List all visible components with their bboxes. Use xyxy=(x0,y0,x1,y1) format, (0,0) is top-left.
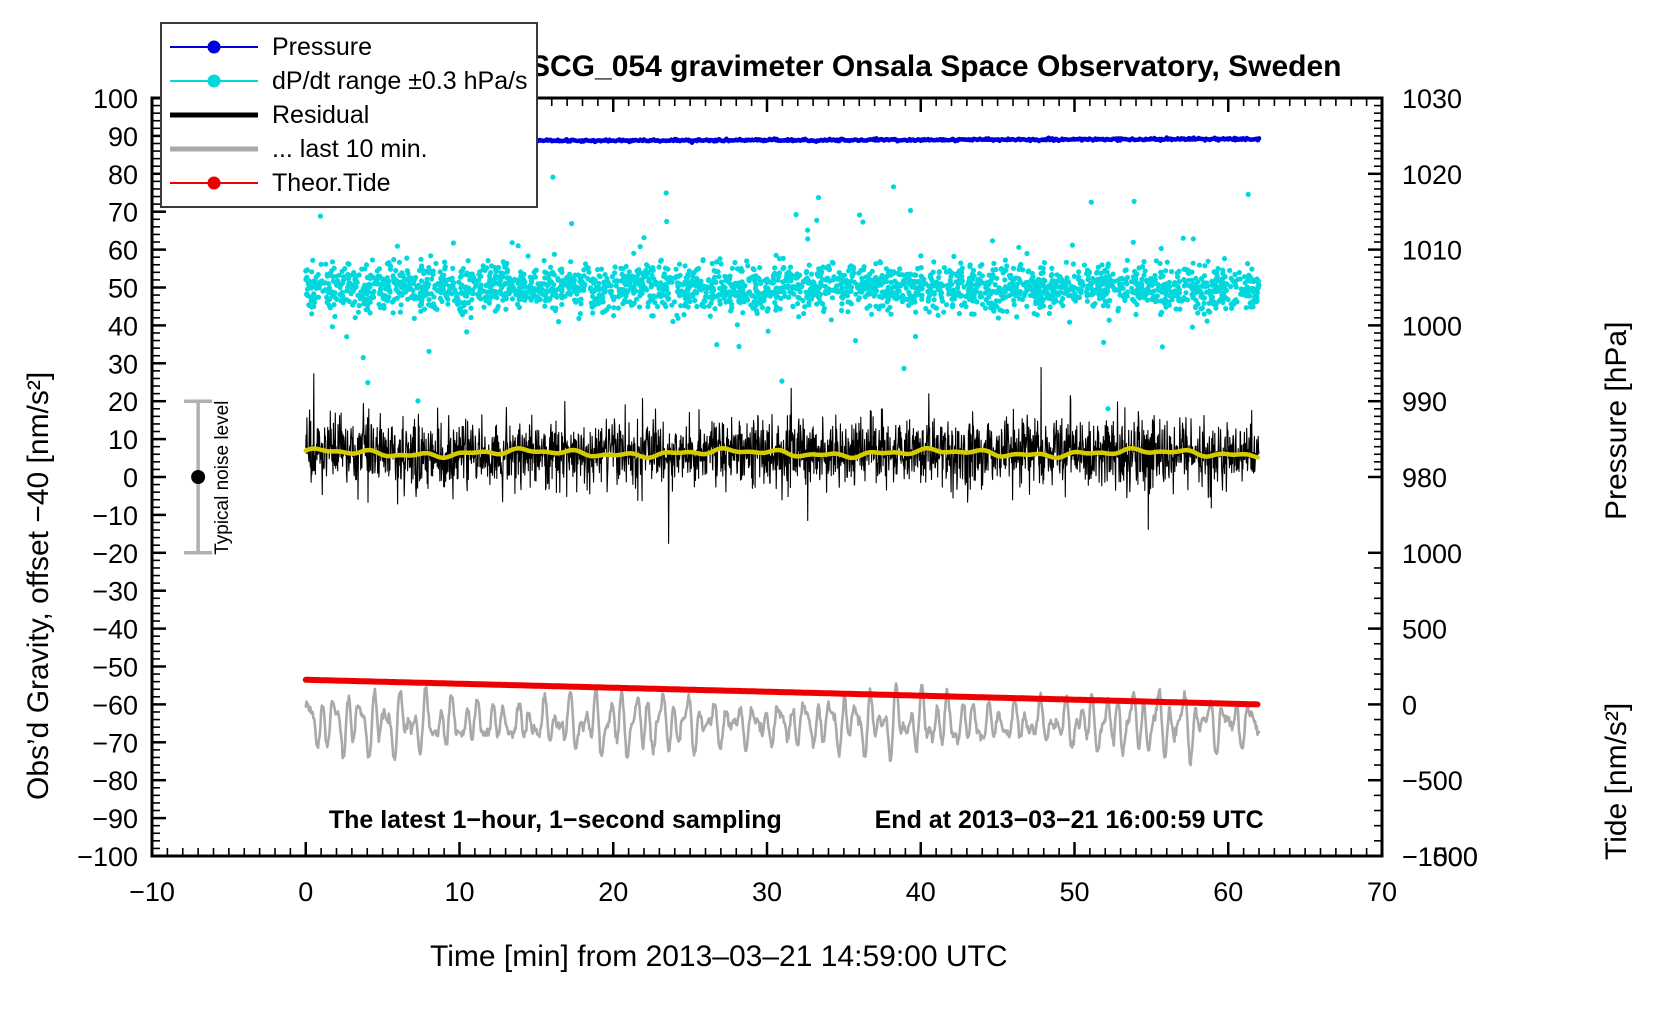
scatter-point xyxy=(577,279,582,284)
scatter-point xyxy=(318,214,323,219)
scatter-point xyxy=(779,379,784,384)
scatter-point xyxy=(788,265,793,270)
scatter-point xyxy=(595,267,600,272)
scatter-point xyxy=(325,274,330,279)
legend-item-label: Theor.Tide xyxy=(262,169,391,198)
scatter-point xyxy=(377,266,382,271)
scatter-point xyxy=(850,274,855,279)
scatter-point xyxy=(452,298,457,303)
scatter-point xyxy=(633,288,638,293)
scatter-point xyxy=(462,300,467,305)
scatter-point xyxy=(476,277,481,282)
scatter-point xyxy=(801,279,806,284)
scatter-point xyxy=(696,284,701,289)
legend-item-label: Residual xyxy=(262,101,369,130)
scatter-point xyxy=(1099,279,1104,284)
scatter-point xyxy=(316,272,321,277)
y-tick-label: −40 xyxy=(92,615,138,645)
scatter-point xyxy=(862,282,867,287)
scatter-point xyxy=(1020,267,1025,272)
scatter-point xyxy=(1195,310,1200,315)
scatter-point xyxy=(1227,268,1232,273)
scatter-point xyxy=(1099,271,1104,276)
scatter-point xyxy=(529,296,534,301)
y-right-tide-label: −1500 xyxy=(1402,842,1478,872)
scatter-point xyxy=(887,291,892,296)
scatter-point xyxy=(491,278,496,283)
scatter-point xyxy=(846,268,851,273)
scatter-point xyxy=(1098,293,1103,298)
scatter-point xyxy=(385,298,390,303)
scatter-point xyxy=(806,292,811,297)
legend-item-2[interactable]: Residual xyxy=(166,98,528,132)
scatter-point xyxy=(481,263,486,268)
scatter-point xyxy=(1142,295,1147,300)
scatter-point xyxy=(745,263,750,268)
scatter-point xyxy=(1042,260,1047,265)
scatter-point xyxy=(842,280,847,285)
scatter-point xyxy=(763,285,768,290)
scatter-point xyxy=(518,281,523,286)
x-tick-label: 0 xyxy=(298,877,313,907)
scatter-point xyxy=(578,311,583,316)
scatter-point xyxy=(1004,309,1009,314)
y-tick-label: −80 xyxy=(92,766,138,796)
scatter-point xyxy=(533,274,538,279)
scatter-point xyxy=(960,266,965,271)
scatter-point xyxy=(1070,243,1075,248)
y-right-tide-label: 500 xyxy=(1402,615,1447,645)
scatter-point xyxy=(797,296,802,301)
scatter-point xyxy=(346,281,351,286)
scatter-point xyxy=(1229,276,1234,281)
scatter-point xyxy=(869,312,874,317)
scatter-point xyxy=(834,283,839,288)
scatter-point xyxy=(1038,296,1043,301)
scatter-point xyxy=(574,291,579,296)
scatter-point xyxy=(906,303,911,308)
x-tick-label: −10 xyxy=(129,877,175,907)
scatter-point xyxy=(418,257,423,262)
scatter-point xyxy=(926,299,931,304)
scatter-point xyxy=(606,283,611,288)
scatter-point xyxy=(1103,299,1108,304)
scatter-point xyxy=(723,285,728,290)
scatter-point xyxy=(1133,312,1138,317)
scatter-point xyxy=(937,269,942,274)
scatter-point xyxy=(364,297,369,302)
scatter-point xyxy=(1177,279,1182,284)
scatter-point xyxy=(953,294,958,299)
scatter-point xyxy=(672,299,677,304)
scatter-point xyxy=(877,294,882,299)
scatter-point xyxy=(499,285,504,290)
scatter-point xyxy=(1191,236,1196,241)
scatter-point xyxy=(1250,286,1255,291)
scatter-point xyxy=(433,261,438,266)
y-tick-label: 10 xyxy=(108,425,138,455)
scatter-point xyxy=(678,273,683,278)
scatter-point xyxy=(676,289,681,294)
scatter-point xyxy=(809,272,814,277)
scatter-point xyxy=(1132,269,1137,274)
scatter-point xyxy=(424,277,429,282)
scatter-point xyxy=(1034,279,1039,284)
scatter-point xyxy=(753,283,758,288)
scatter-point xyxy=(940,299,945,304)
scatter-point xyxy=(1165,260,1170,265)
scatter-point xyxy=(772,265,777,270)
scatter-point xyxy=(511,278,516,283)
scatter-point xyxy=(364,291,369,296)
scatter-point xyxy=(700,303,705,308)
legend-item-label: Pressure xyxy=(262,33,372,62)
scatter-point xyxy=(1191,261,1196,266)
scatter-point xyxy=(706,303,711,308)
scatter-point xyxy=(649,313,654,318)
scatter-point xyxy=(643,268,648,273)
scatter-point xyxy=(1160,344,1165,349)
scatter-point xyxy=(962,284,967,289)
scatter-point xyxy=(672,275,677,280)
scatter-point xyxy=(420,291,425,296)
scatter-point xyxy=(366,282,371,287)
scatter-point xyxy=(713,280,718,285)
scatter-point xyxy=(346,262,351,267)
scatter-point xyxy=(1137,265,1142,270)
scatter-point xyxy=(731,288,736,293)
scatter-point xyxy=(1090,303,1095,308)
scatter-point xyxy=(590,304,595,309)
y-tick-label: 70 xyxy=(108,198,138,228)
legend-item-1[interactable]: dP/dt range ±0.3 hPa/s xyxy=(166,64,528,98)
scatter-point xyxy=(1157,261,1162,266)
scatter-point xyxy=(338,285,343,290)
scatter-point xyxy=(1223,306,1228,311)
scatter-point xyxy=(306,278,311,283)
scatter-point xyxy=(801,311,806,316)
scatter-point xyxy=(694,304,699,309)
scatter-point xyxy=(646,279,651,284)
scatter-point xyxy=(579,275,584,280)
scatter-point xyxy=(1003,284,1008,289)
scatter-point xyxy=(412,316,417,321)
scatter-point xyxy=(571,277,576,282)
scatter-point xyxy=(1066,280,1071,285)
scatter-point xyxy=(885,299,890,304)
scatter-point xyxy=(754,308,759,313)
scatter-point xyxy=(593,278,598,283)
scatter-point xyxy=(375,281,380,286)
scatter-point xyxy=(663,304,668,309)
scatter-point xyxy=(621,290,626,295)
scatter-point xyxy=(488,270,493,275)
scatter-point xyxy=(532,270,537,275)
scatter-point xyxy=(310,258,315,263)
scatter-point xyxy=(712,306,717,311)
scatter-point xyxy=(598,274,603,279)
scatter-point xyxy=(683,263,688,268)
scatter-point xyxy=(330,259,335,264)
y-tick-label: −10 xyxy=(92,501,138,531)
scatter-point xyxy=(991,261,996,266)
plot-frame xyxy=(152,98,1382,856)
scatter-point xyxy=(1093,279,1098,284)
scatter-point xyxy=(1252,294,1257,299)
scatter-point xyxy=(307,303,312,308)
scatter-point xyxy=(711,286,716,291)
scatter-point xyxy=(550,175,555,180)
scatter-point xyxy=(402,286,407,291)
scatter-point xyxy=(556,319,561,324)
scatter-point xyxy=(416,283,421,288)
scatter-point xyxy=(839,308,844,313)
scatter-point xyxy=(481,305,486,310)
scatter-point xyxy=(714,342,719,347)
scatter-point xyxy=(857,212,862,217)
scatter-point xyxy=(1193,305,1198,310)
scatter-point xyxy=(318,279,323,284)
scatter-point xyxy=(681,282,686,287)
scatter-point xyxy=(707,295,712,300)
scatter-point xyxy=(464,294,469,299)
scatter-point xyxy=(1078,281,1083,286)
scatter-point xyxy=(795,301,800,306)
scatter-point xyxy=(854,282,859,287)
scatter-point xyxy=(305,267,310,272)
scatter-point xyxy=(918,253,923,258)
scatter-point xyxy=(771,273,776,278)
scatter-point xyxy=(415,398,420,403)
legend-swatch-icon xyxy=(166,98,262,132)
scatter-point xyxy=(419,263,424,268)
scatter-point xyxy=(1143,268,1148,273)
scatter-point xyxy=(445,302,450,307)
scatter-point xyxy=(757,265,762,270)
scatter-point xyxy=(486,258,491,263)
scatter-point xyxy=(641,235,646,240)
scatter-point xyxy=(856,271,861,276)
scatter-point xyxy=(999,267,1004,272)
scatter-point xyxy=(458,285,463,290)
scatter-point xyxy=(349,273,354,278)
scatter-point xyxy=(719,280,724,285)
scatter-point xyxy=(1134,302,1139,307)
scatter-point xyxy=(997,299,1002,304)
scatter-point xyxy=(944,302,949,307)
scatter-point xyxy=(559,302,564,307)
scatter-point xyxy=(804,269,809,274)
scatter-point xyxy=(811,279,816,284)
scatter-point xyxy=(364,262,369,267)
scatter-point xyxy=(1162,301,1167,306)
scatter-point xyxy=(818,299,823,304)
scatter-point xyxy=(777,270,782,275)
scatter-point xyxy=(542,275,547,280)
scatter-point xyxy=(1041,277,1046,282)
scatter-point xyxy=(397,272,402,277)
scatter-point xyxy=(313,280,318,285)
legend-item-3[interactable]: ... last 10 min. xyxy=(166,132,528,166)
scatter-point xyxy=(1007,293,1012,298)
scatter-point xyxy=(664,219,669,224)
scatter-point xyxy=(786,269,791,274)
scatter-point xyxy=(1017,277,1022,282)
scatter-point xyxy=(1191,294,1196,299)
scatter-point xyxy=(660,300,665,305)
scatter-point xyxy=(1018,262,1023,267)
scatter-point xyxy=(996,315,1001,320)
scatter-point xyxy=(495,307,500,312)
scatter-point xyxy=(1146,283,1151,288)
scatter-point xyxy=(378,286,383,291)
scatter-point xyxy=(545,289,550,294)
scatter-point xyxy=(659,258,664,263)
scatter-point xyxy=(498,274,503,279)
scatter-point xyxy=(464,329,469,334)
scatter-point xyxy=(1004,263,1009,268)
scatter-point xyxy=(426,302,431,307)
scatter-point xyxy=(576,298,581,303)
scatter-point xyxy=(786,295,791,300)
scatter-point xyxy=(328,289,333,294)
scatter-point xyxy=(370,291,375,296)
scatter-point xyxy=(330,324,335,329)
scatter-point xyxy=(1149,290,1154,295)
scatter-point xyxy=(993,267,998,272)
scatter-point xyxy=(1210,282,1215,287)
scatter-point xyxy=(631,251,636,256)
scatter-point xyxy=(738,298,743,303)
scatter-point xyxy=(831,275,836,280)
scatter-point xyxy=(886,285,891,290)
scatter-point xyxy=(312,300,317,305)
scatter-point xyxy=(794,212,799,217)
scatter-point xyxy=(1117,283,1122,288)
scatter-point xyxy=(1064,260,1069,265)
scatter-point xyxy=(1000,289,1005,294)
scatter-point xyxy=(572,283,577,288)
legend-item-0[interactable]: Pressure xyxy=(166,30,528,64)
scatter-point xyxy=(568,259,573,264)
x-tick-label: 50 xyxy=(1059,877,1089,907)
scatter-point xyxy=(735,322,740,327)
scatter-point xyxy=(936,275,941,280)
scatter-point xyxy=(470,291,475,296)
scatter-point xyxy=(1181,277,1186,282)
scatter-point xyxy=(957,311,962,316)
scatter-point xyxy=(844,285,849,290)
scatter-point xyxy=(1153,297,1158,302)
scatter-point xyxy=(1089,200,1094,205)
scatter-point xyxy=(670,319,675,324)
scatter-point xyxy=(706,278,711,283)
scatter-point xyxy=(429,277,434,282)
scatter-point xyxy=(1067,320,1072,325)
scatter-point xyxy=(1085,299,1090,304)
scatter-point xyxy=(989,275,994,280)
scatter-point xyxy=(674,267,679,272)
scatter-point xyxy=(368,276,373,281)
scatter-point xyxy=(840,274,845,279)
scatter-point xyxy=(323,262,328,267)
scatter-point xyxy=(468,306,473,311)
scatter-point xyxy=(994,276,999,281)
scatter-point xyxy=(1082,263,1087,268)
scatter-point xyxy=(544,270,549,275)
scatter-point xyxy=(1210,295,1215,300)
scatter-point xyxy=(1072,285,1077,290)
scatter-point xyxy=(1057,277,1062,282)
scatter-point xyxy=(426,267,431,272)
series-last-10-min xyxy=(306,683,1259,765)
scatter-point xyxy=(928,275,933,280)
scatter-point xyxy=(978,264,983,269)
scatter-point xyxy=(805,236,810,241)
scatter-point xyxy=(1047,311,1052,316)
scatter-point xyxy=(419,278,424,283)
scatter-point xyxy=(814,218,819,223)
scatter-point xyxy=(711,293,716,298)
scatter-point xyxy=(840,295,845,300)
scatter-point xyxy=(805,228,810,233)
scatter-point xyxy=(428,253,433,258)
scatter-point xyxy=(1101,340,1106,345)
scatter-point xyxy=(503,291,508,296)
scatter-point xyxy=(788,278,793,283)
scatter-point xyxy=(1033,301,1038,306)
scatter-point xyxy=(504,261,509,266)
scatter-point xyxy=(515,302,520,307)
scatter-point xyxy=(845,309,850,314)
scatter-point xyxy=(986,282,991,287)
y-tick-label: −50 xyxy=(92,653,138,683)
y-tick-label: −30 xyxy=(92,577,138,607)
scatter-point xyxy=(778,296,783,301)
scatter-point xyxy=(339,290,344,295)
scatter-point xyxy=(638,244,643,249)
scatter-point xyxy=(306,283,311,288)
scatter-point xyxy=(616,306,621,311)
scatter-point xyxy=(1172,282,1177,287)
scatter-point xyxy=(874,289,879,294)
scatter-point xyxy=(1160,273,1165,278)
scatter-point xyxy=(548,265,553,270)
scatter-point xyxy=(506,281,511,286)
scatter-point xyxy=(1129,286,1134,291)
x-tick-label: 40 xyxy=(906,877,936,907)
scatter-point xyxy=(1176,298,1181,303)
scatter-point xyxy=(904,286,909,291)
scatter-point xyxy=(305,293,310,298)
scatter-point xyxy=(777,256,782,261)
scatter-point xyxy=(664,287,669,292)
scatter-point xyxy=(1198,294,1203,299)
scatter-point xyxy=(821,309,826,314)
scatter-point xyxy=(610,294,615,299)
scatter-point xyxy=(1131,240,1136,245)
scatter-point xyxy=(1175,271,1180,276)
scatter-point xyxy=(365,307,370,312)
scatter-point xyxy=(806,302,811,307)
scatter-point xyxy=(559,292,564,297)
scatter-point xyxy=(717,286,722,291)
legend-item-4[interactable]: Theor.Tide xyxy=(166,166,528,200)
scatter-point xyxy=(395,296,400,301)
scatter-point xyxy=(1115,308,1120,313)
y-right-pressure-label: 1020 xyxy=(1402,160,1462,190)
scatter-point xyxy=(526,253,531,258)
